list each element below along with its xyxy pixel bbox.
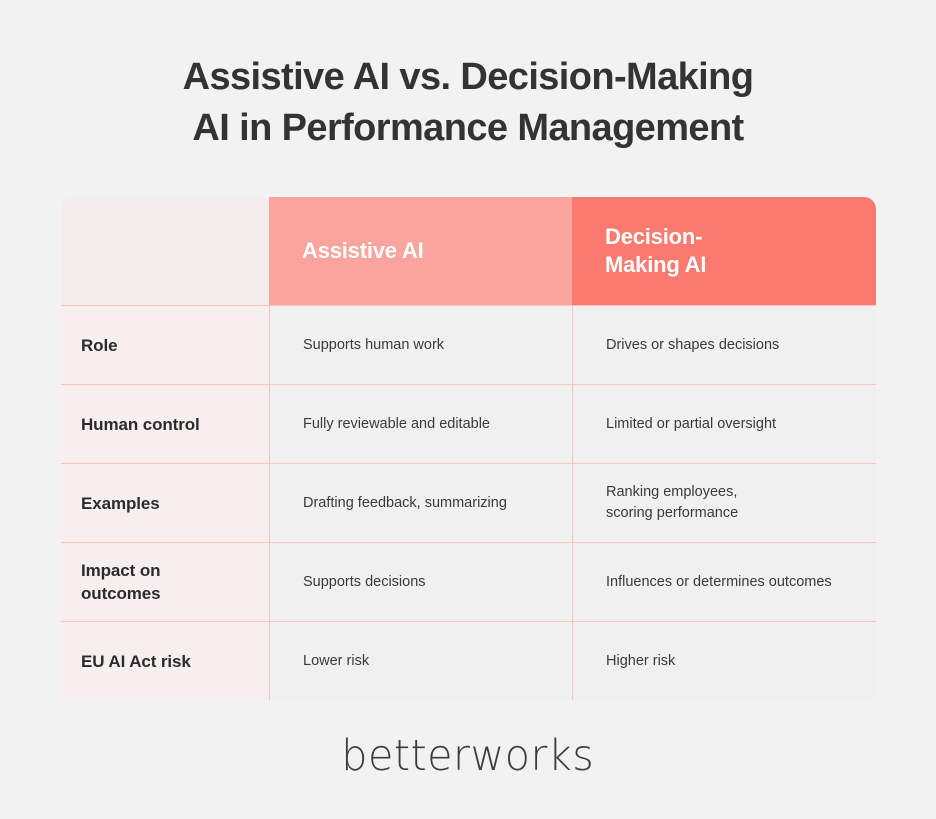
- table-header-decision-making-ai: Decision-Making AI: [572, 197, 876, 305]
- row-label-text: Role: [81, 334, 117, 357]
- cell-value-line-1: Ranking employees,: [606, 484, 737, 500]
- betterworks-logo-text: betterworks: [341, 730, 594, 782]
- table-header-decision-line-1: Decision-: [605, 224, 702, 249]
- comparison-table: Assistive AI Decision-Making AI Role Sup…: [61, 197, 876, 700]
- infographic-page: Assistive AI vs. Decision-Making AI in P…: [0, 0, 936, 819]
- cell-value-text: Supports decisions: [303, 572, 426, 593]
- row-label-text: Human control: [81, 413, 200, 436]
- table-header-decision-line-2: Making AI: [605, 252, 706, 277]
- table-row: Impact onoutcomes Supports decisions Inf…: [61, 542, 876, 621]
- table-row: Human control Fully reviewable and edita…: [61, 384, 876, 463]
- table-header-assistive-ai-label: Assistive AI: [302, 237, 424, 265]
- table-row: Examples Drafting feedback, summarizing …: [61, 463, 876, 542]
- row-label-line-2: outcomes: [81, 584, 161, 603]
- page-title-line-2: AI in Performance Management: [0, 103, 936, 154]
- row-label-human-control: Human control: [61, 385, 269, 463]
- cell-human-control-assistive: Fully reviewable and editable: [269, 385, 572, 463]
- cell-value-text: Supports human work: [303, 335, 444, 356]
- page-title-line-1: Assistive AI vs. Decision-Making: [0, 52, 936, 103]
- row-label-eu-ai-act-risk: EU AI Act risk: [61, 622, 269, 700]
- cell-value-text: Influences or determines outcomes: [606, 572, 832, 593]
- table-header-row: Assistive AI Decision-Making AI: [61, 197, 876, 305]
- cell-value-text: Drafting feedback, summarizing: [303, 493, 507, 514]
- row-label-line-1: Impact on: [81, 561, 160, 580]
- cell-eu-risk-assistive: Lower risk: [269, 622, 572, 700]
- row-label-examples: Examples: [61, 464, 269, 542]
- cell-value-text: Ranking employees,scoring performance: [606, 482, 738, 524]
- table-row: Role Supports human work Drives or shape…: [61, 305, 876, 384]
- table-header-blank-cell: [61, 197, 269, 305]
- cell-value-text: Fully reviewable and editable: [303, 414, 490, 435]
- row-label-text: EU AI Act risk: [81, 650, 191, 673]
- cell-impact-assistive: Supports decisions: [269, 543, 572, 621]
- row-label-role: Role: [61, 306, 269, 384]
- cell-eu-risk-decision: Higher risk: [572, 622, 876, 700]
- row-label-text: Impact onoutcomes: [81, 559, 161, 605]
- betterworks-logo: betterworks: [0, 730, 936, 782]
- cell-value-text: Lower risk: [303, 651, 369, 672]
- table-header-decision-making-ai-label: Decision-Making AI: [605, 223, 706, 279]
- cell-examples-assistive: Drafting feedback, summarizing: [269, 464, 572, 542]
- row-label-impact-on-outcomes: Impact onoutcomes: [61, 543, 269, 621]
- cell-examples-decision: Ranking employees,scoring performance: [572, 464, 876, 542]
- cell-value-text: Limited or partial oversight: [606, 414, 776, 435]
- cell-role-decision: Drives or shapes decisions: [572, 306, 876, 384]
- cell-value-line-2: scoring performance: [606, 505, 738, 521]
- cell-impact-decision: Influences or determines outcomes: [572, 543, 876, 621]
- table-row: EU AI Act risk Lower risk Higher risk: [61, 621, 876, 700]
- cell-value-text: Drives or shapes decisions: [606, 335, 779, 356]
- cell-value-text: Higher risk: [606, 651, 675, 672]
- table-header-assistive-ai: Assistive AI: [269, 197, 572, 305]
- page-title: Assistive AI vs. Decision-Making AI in P…: [0, 52, 936, 154]
- cell-human-control-decision: Limited or partial oversight: [572, 385, 876, 463]
- row-label-text: Examples: [81, 492, 160, 515]
- cell-role-assistive: Supports human work: [269, 306, 572, 384]
